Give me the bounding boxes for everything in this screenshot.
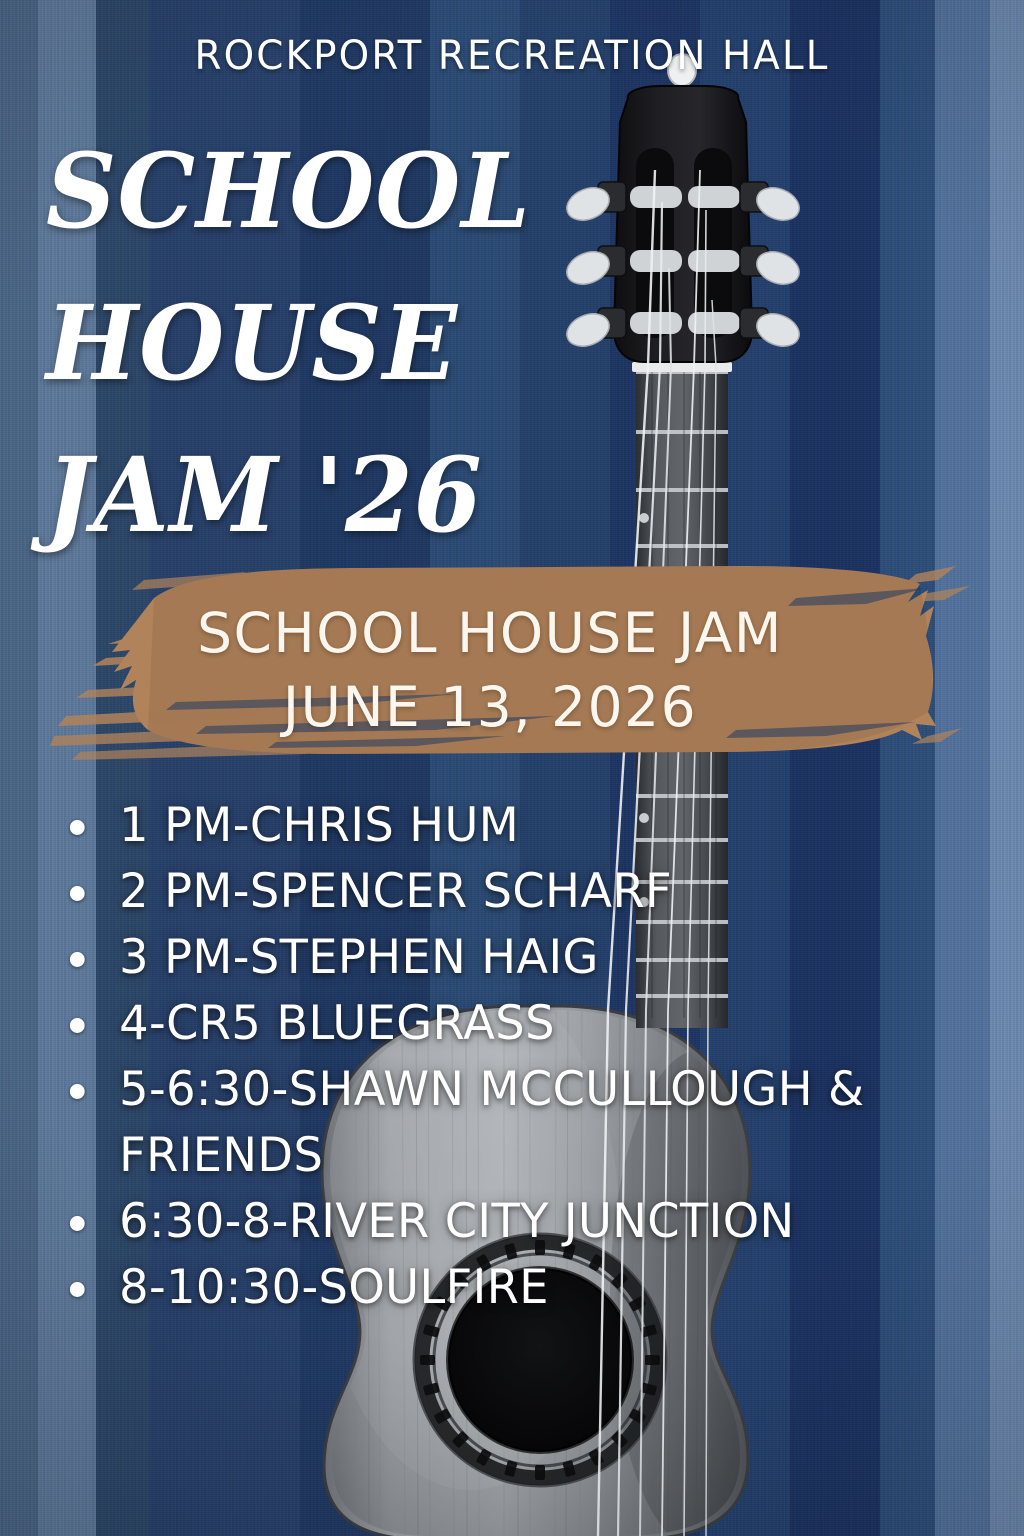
lineup-item-text: 2 PM-SPENCER SCHARF	[119, 864, 672, 919]
event-banner: SCHOOL HOUSE JAM JUNE 13, 2026	[36, 540, 988, 778]
list-item: 8-10:30-SOULFIRE	[62, 1255, 998, 1321]
title-line-2: HOUSE	[46, 258, 597, 428]
event-date: JUNE 13, 2026	[36, 670, 944, 744]
poster-content: ROCKPORT RECREATION HALL SCHOOL HOUSE JA…	[0, 0, 1024, 1536]
list-item: 1 PM-CHRIS HUM	[62, 793, 998, 859]
lineup-list: 1 PM-CHRIS HUM 2 PM-SPENCER SCHARF 3 PM-…	[62, 793, 1012, 1321]
lineup-item-text: 8-10:30-SOULFIRE	[119, 1260, 549, 1315]
lineup-item-text: 4-CR5 BLUEGRASS	[119, 996, 555, 1051]
venue-name: ROCKPORT RECREATION HALL	[15, 33, 1008, 79]
poster-title: SCHOOL HOUSE JAM '26	[46, 115, 566, 571]
bullet-icon	[70, 886, 85, 901]
lineup-item-text: 6:30-8-RIVER CITY JUNCTION	[119, 1194, 794, 1249]
lineup-item-text: 1 PM-CHRIS HUM	[119, 798, 519, 853]
list-item: 5-6:30-SHAWN MCCULLOUGH & FRIENDS	[62, 1057, 998, 1189]
list-item: 2 PM-SPENCER SCHARF	[62, 859, 998, 925]
title-line-1: SCHOOL	[46, 106, 597, 276]
bullet-icon	[70, 1084, 85, 1099]
lineup-item-text: 3 PM-STEPHEN HAIG	[119, 930, 599, 985]
bullet-icon	[70, 952, 85, 967]
list-item: 4-CR5 BLUEGRASS	[62, 991, 998, 1057]
banner-text: SCHOOL HOUSE JAM JUNE 13, 2026	[36, 596, 988, 744]
bullet-icon	[70, 1216, 85, 1231]
list-item: 6:30-8-RIVER CITY JUNCTION	[62, 1189, 998, 1255]
bullet-icon	[70, 1018, 85, 1033]
bullet-icon	[70, 820, 85, 835]
event-poster: ROCKPORT RECREATION HALL SCHOOL HOUSE JA…	[0, 0, 1024, 1536]
event-name: SCHOOL HOUSE JAM	[36, 596, 944, 670]
bullet-icon	[70, 1282, 85, 1297]
lineup-item-text: 5-6:30-SHAWN MCCULLOUGH & FRIENDS	[119, 1062, 879, 1183]
list-item: 3 PM-STEPHEN HAIG	[62, 925, 998, 991]
